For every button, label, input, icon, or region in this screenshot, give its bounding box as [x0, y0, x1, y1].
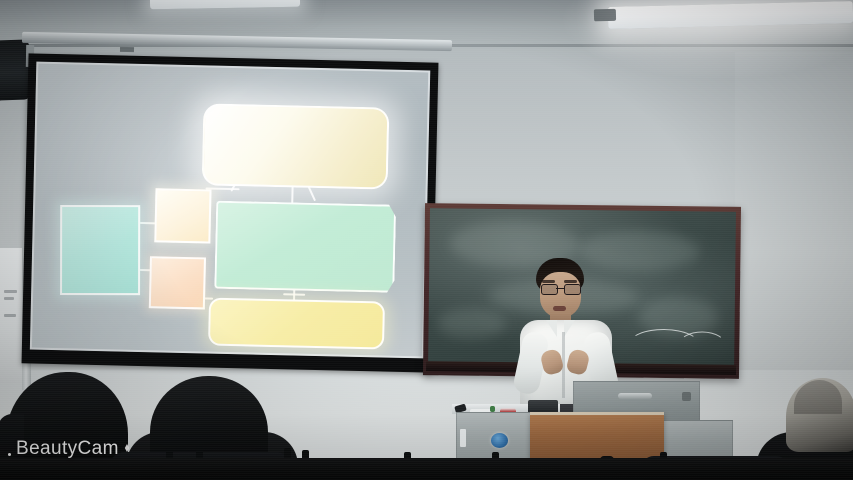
diagram-node-bottom	[208, 298, 385, 350]
watermark-dot	[8, 453, 11, 456]
beautycam-watermark: BeautyCam	[8, 438, 131, 460]
glasses-lens	[564, 284, 581, 295]
diagram-node-peach	[149, 256, 206, 309]
presenter-eyebrow	[564, 280, 577, 283]
draped-white-cable	[678, 331, 726, 360]
pull-down-projection-screen	[22, 53, 439, 372]
audience-head-right	[786, 378, 853, 452]
notice-line	[4, 290, 17, 293]
cabinet-side-card	[460, 429, 466, 447]
audience-chair-row	[0, 458, 853, 480]
cabinet-latch	[682, 392, 691, 401]
chalk-smudge	[436, 308, 506, 339]
sparkle-icon	[125, 440, 129, 448]
diagram-node-cream	[154, 188, 211, 243]
lecture-hall-photo: BeautyCam	[0, 0, 853, 480]
glasses-bridge	[556, 288, 564, 289]
glasses-lens	[541, 284, 558, 295]
projection-screen-surface	[30, 62, 430, 359]
watermark-text: BeautyCam	[16, 438, 119, 460]
shirt-collar	[546, 320, 557, 337]
presenter-mouth	[553, 306, 566, 311]
shirt-collar	[564, 320, 575, 337]
blue-circle-sticker-icon	[491, 433, 508, 448]
diagram-node-left	[60, 205, 140, 295]
drawer-handle	[618, 393, 652, 399]
wall-notice-panel	[0, 248, 23, 383]
diagram-node-green	[214, 201, 396, 293]
presenter-eyebrow	[542, 280, 555, 283]
notice-line	[4, 314, 16, 317]
glasses-icon	[540, 284, 581, 293]
diagram-node-top	[202, 103, 390, 189]
notice-line	[4, 297, 14, 300]
roller-bracket	[120, 47, 134, 52]
diagram-connector	[283, 293, 305, 295]
